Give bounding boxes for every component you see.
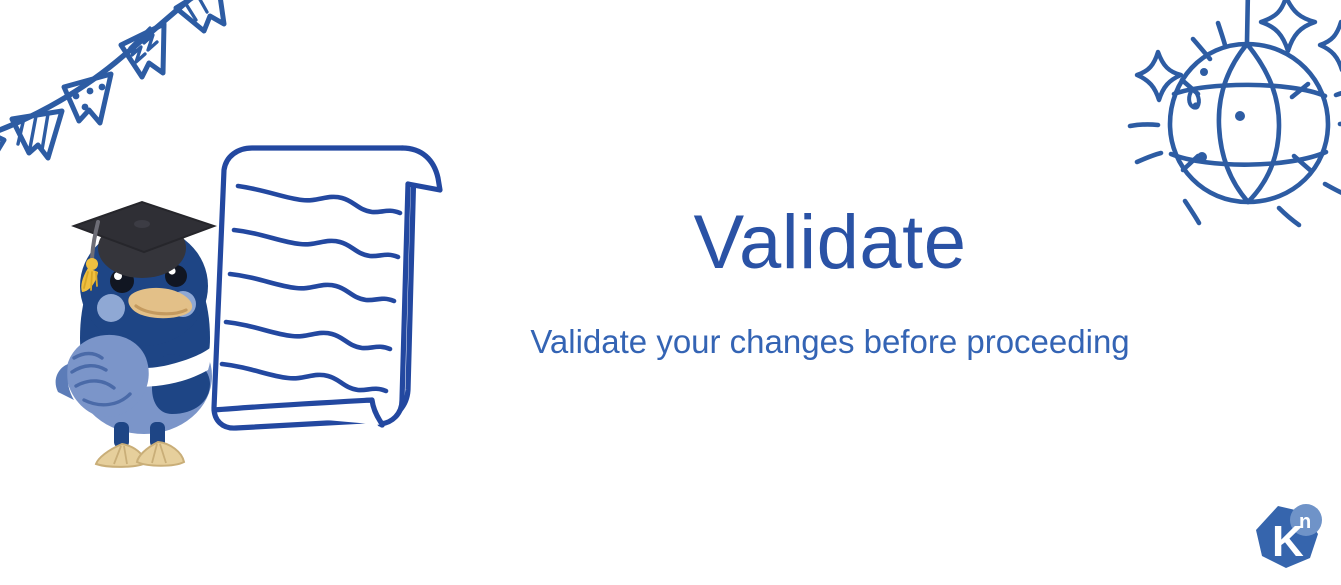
disco-ball-icon	[1122, 0, 1341, 234]
page-title: Validate	[470, 205, 1190, 281]
page-subtitle: Validate your changes before proceeding	[470, 324, 1190, 360]
kn-logo[interactable]: K n	[1248, 500, 1328, 578]
hero-text-block: Validate Validate your changes before pr…	[470, 205, 1190, 360]
hero-banner: Validate Validate your changes before pr…	[0, 0, 1341, 585]
graduate-bird-mascot	[52, 186, 242, 471]
party-bunting-icon	[0, 0, 236, 180]
logo-letter-n: n	[1299, 511, 1311, 533]
certificate-scroll-icon	[176, 138, 466, 443]
